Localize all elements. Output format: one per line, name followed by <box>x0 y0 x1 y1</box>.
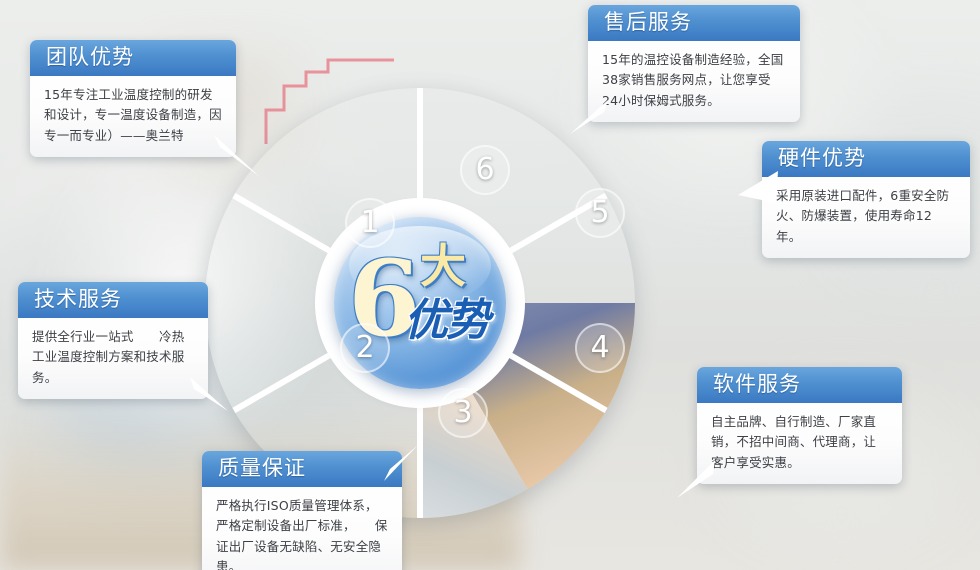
card-tail-tech <box>190 377 234 413</box>
infographic-canvas: 6 大 优势 1 2 3 4 5 6 团队优势 15年专注工业温度控制的研发和设… <box>0 0 980 570</box>
card-tail-quality <box>384 445 424 485</box>
card-text-team: 15年专注工业温度控制的研发和设计，专一温度设备制造，因专一而专业）——奥兰特 <box>30 76 236 157</box>
card-text-software: 自主品牌、自行制造、厂家直销，不招中间商、代理商，让客户享受实惠。 <box>697 403 902 484</box>
callout-card-after-sales[interactable]: 售后服务 15年的温控设备制造经验，全国38家销售服务网点，让您享受24小时保姆… <box>588 5 800 122</box>
card-title-software: 软件服务 <box>697 367 902 403</box>
card-title-hardware: 硬件优势 <box>762 141 970 177</box>
segment-marker-4[interactable]: 4 <box>575 323 625 373</box>
card-text-quality: 严格执行ISO质量管理体系，严格定制设备出厂标准， 保证出厂设备无缺陷、无安全隐… <box>202 487 402 570</box>
segment-marker-3[interactable]: 3 <box>438 388 488 438</box>
callout-card-software[interactable]: 软件服务 自主品牌、自行制造、厂家直销，不招中间商、代理商，让客户享受实惠。 <box>697 367 902 484</box>
callout-card-team[interactable]: 团队优势 15年专注工业温度控制的研发和设计，专一温度设备制造，因专一而专业）—… <box>30 40 236 157</box>
segment-marker-6[interactable]: 6 <box>460 145 510 195</box>
callout-card-quality[interactable]: 质量保证 严格执行ISO质量管理体系，严格定制设备出厂标准， 保证出厂设备无缺陷… <box>202 451 402 570</box>
callout-card-hardware[interactable]: 硬件优势 采用原装进口配件，6重安全防火、防爆装置，使用寿命12年。 <box>762 141 970 258</box>
card-tail-after-sales <box>568 100 608 138</box>
segment-marker-5[interactable]: 5 <box>575 188 625 238</box>
card-text-after-sales: 15年的温控设备制造经验，全国38家销售服务网点，让您享受24小时保姆式服务。 <box>588 41 800 122</box>
segment-marker-2[interactable]: 2 <box>340 323 390 373</box>
card-title-tech: 技术服务 <box>18 282 208 318</box>
card-tail-hardware <box>738 169 780 217</box>
card-title-quality: 质量保证 <box>202 451 402 487</box>
badge-script-text: 优势 <box>404 299 488 343</box>
card-title-team: 团队优势 <box>30 40 236 76</box>
card-tail-software <box>675 460 717 502</box>
badge-big-char: 大 <box>420 243 466 289</box>
card-tail-team <box>214 135 270 179</box>
card-text-hardware: 采用原装进口配件，6重安全防火、防爆装置，使用寿命12年。 <box>762 177 970 258</box>
callout-card-tech[interactable]: 技术服务 提供全行业一站式 冷热工业温度控制方案和技术服务。 <box>18 282 208 399</box>
card-text-tech: 提供全行业一站式 冷热工业温度控制方案和技术服务。 <box>18 318 208 399</box>
card-title-after-sales: 售后服务 <box>588 5 800 41</box>
segment-marker-1[interactable]: 1 <box>345 198 395 248</box>
